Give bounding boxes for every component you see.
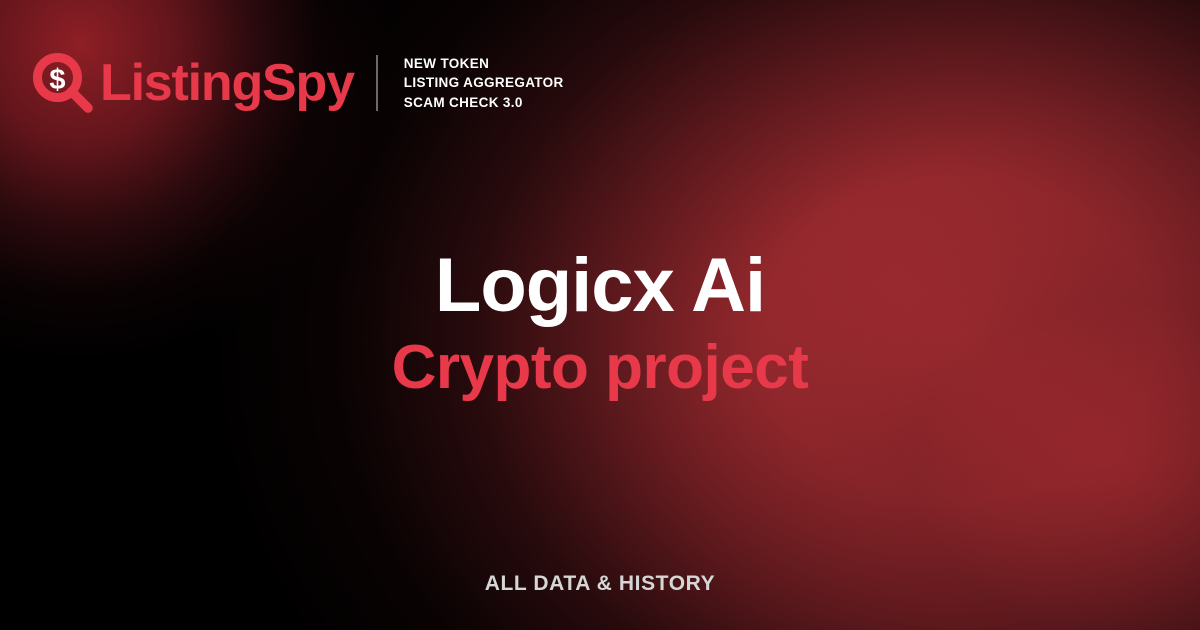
hero-section: Logicx Ai Crypto project — [0, 246, 1200, 402]
header: $ ListingSpy NEW TOKEN LISTING AGGREGATO… — [32, 52, 564, 114]
footer-text: ALL DATA & HISTORY — [485, 572, 716, 595]
tagline-line-3: SCAM CHECK 3.0 — [404, 93, 564, 112]
header-divider — [376, 55, 378, 111]
magnifier-dollar-icon: $ — [32, 52, 94, 114]
brand-wordmark: ListingSpy — [100, 57, 354, 109]
tagline-line-2: LISTING AGGREGATOR — [404, 73, 564, 92]
brand-tagline: NEW TOKEN LISTING AGGREGATOR SCAM CHECK … — [404, 54, 564, 111]
share-card: $ ListingSpy NEW TOKEN LISTING AGGREGATO… — [0, 0, 1200, 630]
page-title: Logicx Ai — [0, 246, 1200, 325]
footer: ALL DATA & HISTORY — [0, 572, 1200, 596]
svg-text:$: $ — [49, 64, 65, 96]
brand-logo[interactable]: $ ListingSpy — [32, 52, 354, 114]
page-subtitle: Crypto project — [0, 335, 1200, 402]
tagline-line-1: NEW TOKEN — [404, 54, 564, 73]
